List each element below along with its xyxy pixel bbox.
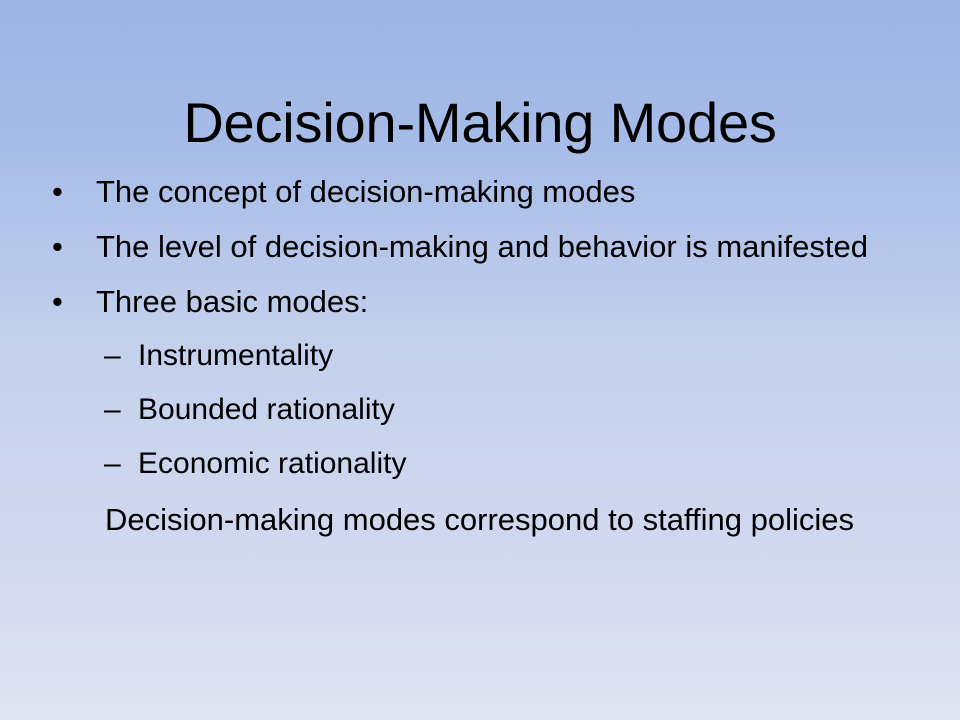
bullet-marker-icon: • bbox=[52, 172, 82, 211]
sub-bullet-item-2-label: Bounded rationality bbox=[138, 391, 890, 429]
bullet-item-1-label: The concept of decision-making modes bbox=[96, 172, 890, 211]
closing-paragraph: Decision-making modes correspond to staf… bbox=[0, 499, 960, 540]
bullet-marker-icon: • bbox=[52, 227, 82, 266]
sub-bullet-item-3-label: Economic rationality bbox=[138, 445, 890, 483]
sub-bullet-item-1-label: Instrumentality bbox=[138, 337, 890, 375]
bullet-item-3: • Three basic modes: bbox=[0, 282, 960, 321]
sub-bullet-item-3: – Economic rationality bbox=[0, 445, 960, 483]
dash-marker-icon: – bbox=[104, 445, 134, 483]
slide-title: Decision-Making Modes bbox=[0, 92, 960, 154]
slide-body: • The concept of decision-making modes •… bbox=[0, 172, 960, 540]
dash-marker-icon: – bbox=[104, 337, 134, 375]
bullet-marker-icon: • bbox=[52, 282, 82, 321]
bullet-item-1: • The concept of decision-making modes bbox=[0, 172, 960, 211]
bullet-item-3-label: Three basic modes: bbox=[96, 282, 890, 321]
bullet-item-2-label: The level of decision-making and behavio… bbox=[96, 227, 890, 266]
presentation-slide: Decision-Making Modes • The concept of d… bbox=[0, 0, 960, 720]
sub-bullet-item-2: – Bounded rationality bbox=[0, 391, 960, 429]
bullet-item-2: • The level of decision-making and behav… bbox=[0, 227, 960, 266]
sub-bullet-item-1: – Instrumentality bbox=[0, 337, 960, 375]
dash-marker-icon: – bbox=[104, 391, 134, 429]
